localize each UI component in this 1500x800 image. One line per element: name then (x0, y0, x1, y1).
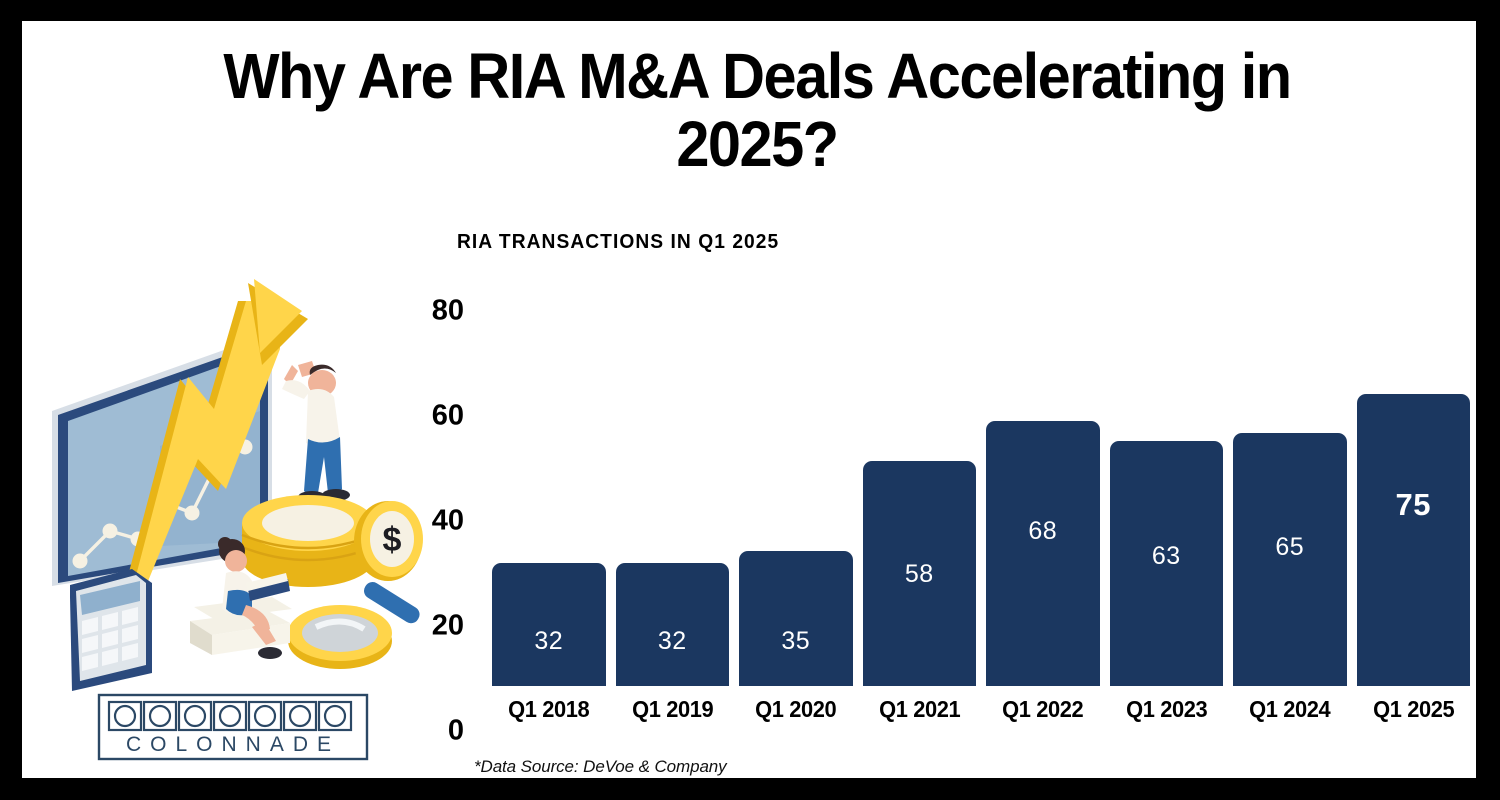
chart-title: RIA TRANSACTIONS IN Q1 2025 (457, 231, 779, 254)
bar-value-label: 58 (863, 560, 977, 589)
x-axis-label: Q1 2021 (860, 696, 979, 723)
infographic-poster: Why Are RIA M&A Deals Accelerating in 20… (0, 0, 1500, 800)
colonnade-logo: COLONNADE (97, 693, 369, 761)
chart-plot-area: 80 60 40 20 0 32 Q1 2018 32 (422, 266, 1472, 731)
bar-chart: RIA TRANSACTIONS IN Q1 2025 80 60 40 20 … (422, 211, 1472, 778)
bar-column[interactable]: 58 Q1 2021 (863, 266, 977, 686)
bar-column[interactable]: 63 Q1 2023 (1110, 266, 1224, 686)
bar[interactable]: 35 (739, 551, 853, 686)
bar[interactable]: 58 (863, 461, 977, 686)
x-axis-label: Q1 2023 (1107, 696, 1226, 723)
person-standing-icon (282, 361, 350, 503)
bar-value-label: 75 (1357, 487, 1471, 523)
bar-series: 32 Q1 2018 32 Q1 2019 35 (492, 266, 1470, 686)
bar[interactable]: 68 (986, 421, 1100, 686)
x-axis-label: Q1 2024 (1230, 696, 1349, 723)
y-axis-tick: 40 (374, 505, 464, 538)
bar[interactable]: 63 (1110, 441, 1224, 686)
page-title: Why Are RIA M&A Deals Accelerating in 20… (142, 43, 1372, 179)
business-growth-illustration: $ (40, 261, 430, 691)
bar-column[interactable]: 75 Q1 2025 (1357, 266, 1471, 686)
calculator-icon (70, 569, 152, 691)
bar-column[interactable]: 68 Q1 2022 (986, 266, 1100, 686)
bar-value-label: 68 (986, 517, 1100, 546)
y-axis-tick: 20 (374, 610, 464, 643)
y-axis-tick: 60 (374, 400, 464, 433)
bar-column[interactable]: 65 Q1 2024 (1233, 266, 1347, 686)
bar-value-label: 32 (492, 627, 606, 656)
bar-value-label: 35 (739, 627, 853, 656)
svg-text:COLONNADE: COLONNADE (126, 733, 340, 756)
bar-column[interactable]: 32 Q1 2018 (492, 266, 606, 686)
x-axis-label: Q1 2022 (983, 696, 1102, 723)
poster-canvas: Why Are RIA M&A Deals Accelerating in 20… (22, 21, 1476, 778)
y-axis-tick: 0 (374, 715, 464, 748)
bar[interactable]: 75 (1357, 394, 1471, 686)
bar-column[interactable]: 32 Q1 2019 (616, 266, 730, 686)
bar[interactable]: 65 (1233, 433, 1347, 686)
bar-value-label: 63 (1110, 542, 1224, 571)
bar[interactable]: 32 (616, 563, 730, 686)
x-axis-label: Q1 2018 (489, 696, 608, 723)
data-source-footnote: *Data Source: DeVoe & Company (474, 757, 727, 777)
bar-value-label: 32 (616, 627, 730, 656)
main-title-text: Why Are RIA M&A Deals Accelerating in 20… (185, 43, 1329, 179)
x-axis-label: Q1 2019 (613, 696, 732, 723)
bar[interactable]: 32 (492, 563, 606, 686)
y-axis-tick: 80 (374, 295, 464, 328)
bar-column[interactable]: 35 Q1 2020 (739, 266, 853, 686)
x-axis-label: Q1 2025 (1354, 696, 1473, 723)
x-axis-label: Q1 2020 (736, 696, 855, 723)
bar-value-label: 65 (1233, 533, 1347, 562)
